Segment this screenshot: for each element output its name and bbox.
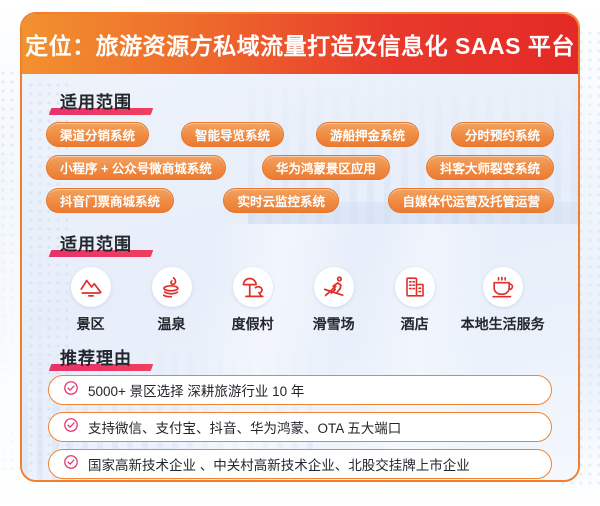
scene-item-label: 酒店 bbox=[401, 314, 429, 334]
building-icon bbox=[395, 267, 435, 307]
beach-parasol-icon bbox=[233, 267, 273, 307]
tag-row: 抖音门票商城系统 实时云监控系统 自媒体代运营及托管运营 bbox=[36, 188, 564, 213]
section-heading-reasons: 推荐理由 bbox=[50, 344, 142, 371]
reason-row[interactable]: 支持微信、支付宝、抖音、华为鸿蒙、OTA 五大端口 bbox=[48, 412, 552, 442]
scene-item-local-life[interactable]: 本地生活服务 bbox=[455, 267, 550, 334]
section-heading-scope-systems: 适用范围 bbox=[50, 88, 142, 115]
reason-text: 支持微信、支付宝、抖音、华为鸿蒙、OTA 五大端口 bbox=[88, 417, 401, 437]
page-title: 定位：旅游资源方私域流量打造及信息化 SAAS 平台 bbox=[25, 27, 575, 61]
tag-item[interactable]: 小程序 + 公众号微商城系统 bbox=[46, 155, 226, 180]
scene-item-label: 温泉 bbox=[158, 314, 186, 334]
hot-spring-icon bbox=[152, 267, 192, 307]
reason-row[interactable]: 国家高新技术企业 、中关村高新技术企业、北股交挂牌上市企业 bbox=[48, 449, 552, 479]
tag-row: 小程序 + 公众号微商城系统 华为鸿蒙景区应用 抖客大师裂变系统 bbox=[36, 155, 564, 180]
mountain-icon bbox=[71, 267, 111, 307]
skier-icon bbox=[314, 267, 354, 307]
section-heading-label: 适用范围 bbox=[60, 93, 132, 112]
tag-row: 渠道分销系统 智能导览系统 游船押金系统 分时预约系统 bbox=[36, 122, 564, 147]
card-header: 定位：旅游资源方私域流量打造及信息化 SAAS 平台 bbox=[22, 14, 578, 74]
check-circle-icon bbox=[63, 380, 79, 401]
check-circle-icon bbox=[63, 417, 79, 438]
tag-item[interactable]: 智能导览系统 bbox=[181, 122, 284, 147]
tag-item[interactable]: 自媒体代运营及托管运营 bbox=[388, 188, 554, 213]
tag-item[interactable]: 实时云监控系统 bbox=[223, 188, 339, 213]
section-heading-scope-scenes: 适用范围 bbox=[50, 230, 142, 257]
section-heading-label: 推荐理由 bbox=[60, 349, 132, 368]
reason-list: 5000+ 景区选择 深耕旅游行业 10 年 支持微信、支付宝、抖音、华为鸿蒙、… bbox=[36, 371, 564, 479]
reason-row[interactable]: 5000+ 景区选择 深耕旅游行业 10 年 bbox=[48, 375, 552, 405]
scene-item-label: 景区 bbox=[77, 314, 105, 334]
scene-icon-list: 景区 温泉 bbox=[36, 261, 564, 334]
tag-list: 渠道分销系统 智能导览系统 游船押金系统 分时预约系统 小程序 + 公众号微商城… bbox=[36, 122, 564, 213]
scene-item-hot-spring[interactable]: 温泉 bbox=[131, 267, 212, 334]
tag-item[interactable]: 华为鸿蒙景区应用 bbox=[262, 155, 390, 180]
card-content: 适用范围 渠道分销系统 智能导览系统 游船押金系统 分时预约系统 小程序 + 公… bbox=[22, 74, 578, 479]
scene-item-label: 度假村 bbox=[232, 314, 274, 334]
scene-item-label: 滑雪场 bbox=[313, 314, 355, 334]
section-heading-label: 适用范围 bbox=[60, 235, 132, 254]
tag-item[interactable]: 分时预约系统 bbox=[451, 122, 554, 147]
info-card: 定位：旅游资源方私域流量打造及信息化 SAAS 平台 适用范围 渠道分销系统 智… bbox=[20, 12, 580, 482]
tag-item[interactable]: 游船押金系统 bbox=[316, 122, 419, 147]
reason-text: 国家高新技术企业 、中关村高新技术企业、北股交挂牌上市企业 bbox=[88, 454, 470, 474]
tag-item[interactable]: 抖音门票商城系统 bbox=[46, 188, 174, 213]
coffee-cup-icon bbox=[483, 267, 523, 307]
reason-text: 5000+ 景区选择 深耕旅游行业 10 年 bbox=[88, 380, 304, 400]
card-body: 适用范围 渠道分销系统 智能导览系统 游船押金系统 分时预约系统 小程序 + 公… bbox=[22, 74, 578, 480]
scene-item-resort[interactable]: 度假村 bbox=[212, 267, 293, 334]
scene-item-label: 本地生活服务 bbox=[461, 314, 545, 334]
scene-item-ski[interactable]: 滑雪场 bbox=[293, 267, 374, 334]
tag-item[interactable]: 抖客大师裂变系统 bbox=[426, 155, 554, 180]
scene-item-hotel[interactable]: 酒店 bbox=[374, 267, 455, 334]
tag-item[interactable]: 渠道分销系统 bbox=[46, 122, 149, 147]
check-circle-icon bbox=[63, 454, 79, 475]
scene-item-scenic[interactable]: 景区 bbox=[50, 267, 131, 334]
